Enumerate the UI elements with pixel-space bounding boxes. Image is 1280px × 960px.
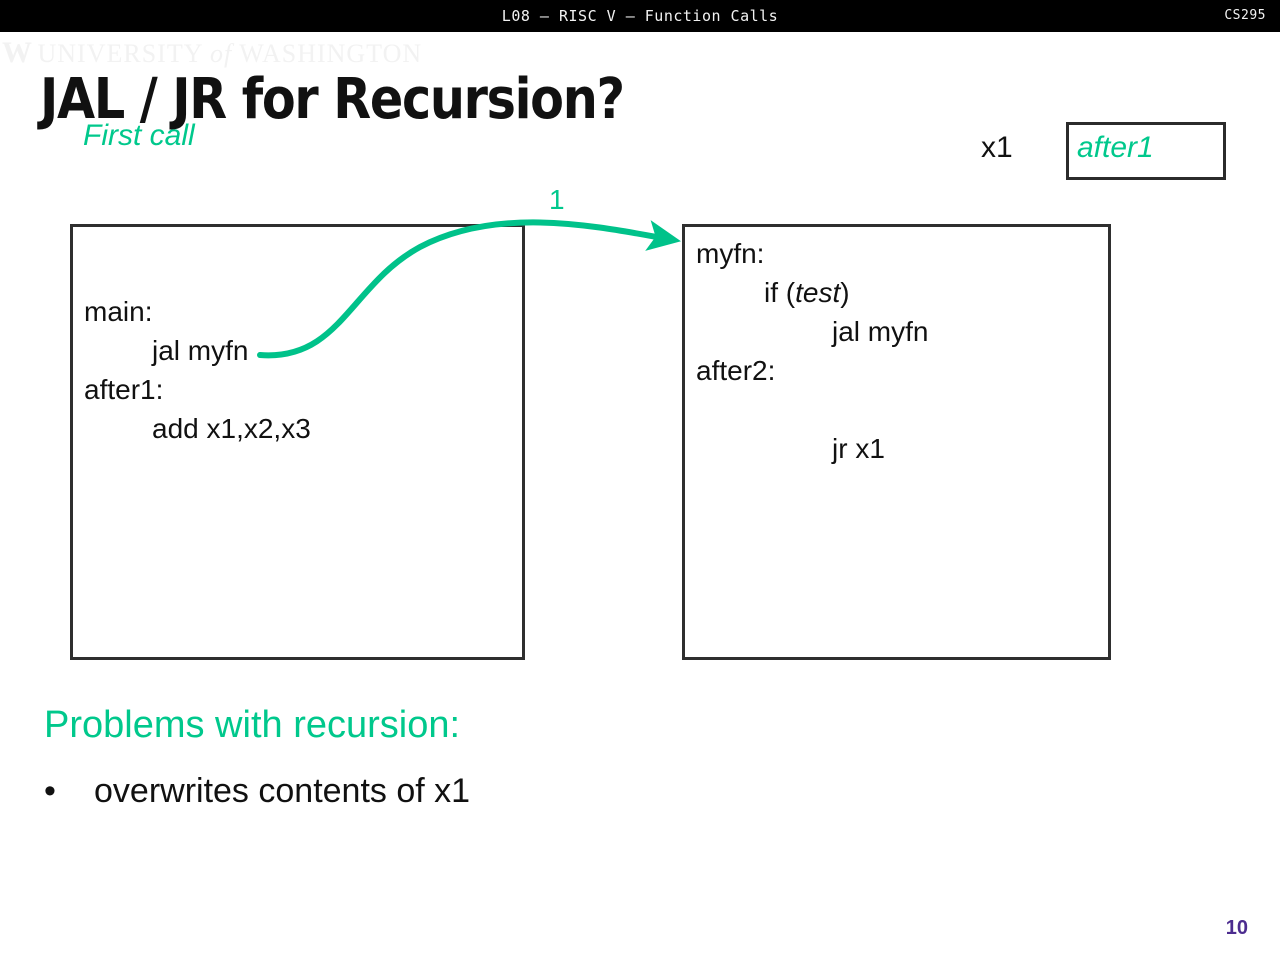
problems-heading: Problems with recursion: <box>44 702 460 748</box>
register-value-text: after1 <box>1077 130 1154 166</box>
lecture-title-text: L08 – RISC V – Function Calls <box>0 0 1280 32</box>
list-item: • overwrites contents of x1 <box>44 768 470 814</box>
code-line: jr x1 <box>696 429 885 468</box>
code-line: jal myfn <box>696 312 928 351</box>
bullet-item-text: overwrites contents of x1 <box>94 768 470 814</box>
register-name-label: x1 <box>981 130 1013 166</box>
call-flow-arrow <box>220 175 720 385</box>
code-blank-line <box>696 390 928 429</box>
course-code-text: CS295 <box>1224 0 1266 32</box>
myfn-code-text: myfn: if (test) jal myfn after2: jr x1 <box>696 234 928 468</box>
watermark-w-glyph: W <box>2 36 30 69</box>
slide-title: JAL / JR for Recursion? <box>40 64 624 136</box>
code-italic-test: test <box>795 277 840 308</box>
code-line: after1: <box>84 374 163 405</box>
bullet-point-icon: • <box>44 768 94 814</box>
arrow-step-number: 1 <box>549 183 565 217</box>
code-line: main: <box>84 296 152 327</box>
code-line: add x1,x2,x3 <box>84 409 311 448</box>
page-number: 10 <box>1226 917 1248 940</box>
